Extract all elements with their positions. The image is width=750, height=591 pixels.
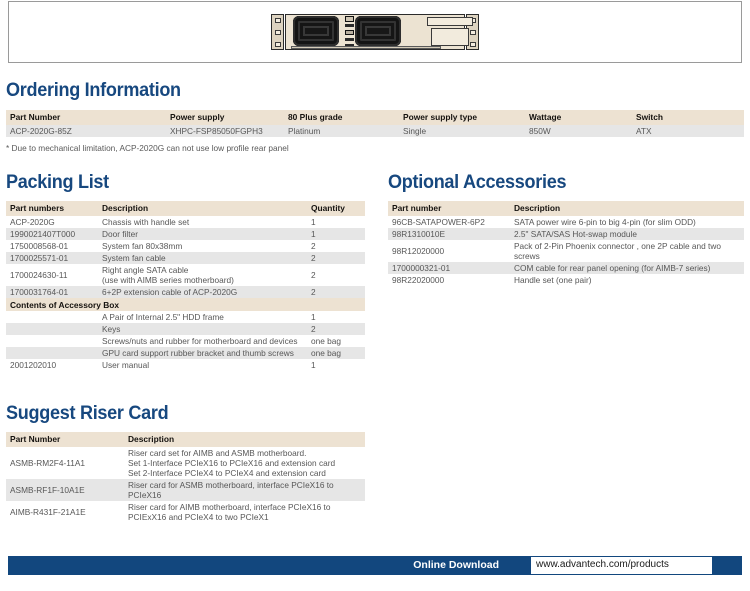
cell-part-number: ASMB-RM2F4-11A1 bbox=[6, 447, 124, 479]
cell-description-line3: Set 2-Interface PCIeX4 to PCIeX4 and ext… bbox=[128, 468, 362, 478]
table-row: GPU card support rubber bracket and thum… bbox=[6, 347, 365, 359]
col-header-quantity: Quantity bbox=[307, 201, 365, 216]
cell-part-number: ASMB-RF1F-10A1E bbox=[6, 479, 124, 501]
cell-description-line2: (use with AIMB series motherboard) bbox=[102, 275, 304, 285]
cell-part-number: ACP-2020G-85Z bbox=[6, 125, 166, 137]
cell-part-number: 96CB-SATAPOWER-6P2 bbox=[388, 216, 510, 228]
table-row: 1700000321-01 COM cable for rear panel o… bbox=[388, 262, 744, 274]
cell-part-number: 1700000321-01 bbox=[388, 262, 510, 274]
cell-wattage: 850W bbox=[525, 125, 632, 137]
cell-description: Pack of 2-Pin Phoenix connector , one 2P… bbox=[510, 240, 744, 262]
table-row: A Pair of Internal 2.5" HDD frame 1 bbox=[6, 311, 365, 323]
cell-description: Keys bbox=[98, 323, 307, 335]
cell-quantity: 2 bbox=[307, 252, 365, 264]
product-image-frame bbox=[8, 1, 742, 63]
suggest-riser-card-table: Part Number Description ASMB-RM2F4-11A1 … bbox=[6, 432, 365, 523]
ordering-footnote: * Due to mechanical limitation, ACP-2020… bbox=[6, 143, 289, 153]
col-header-part-number: Part Number bbox=[6, 110, 166, 125]
cell-part-number: 1700025571-01 bbox=[6, 252, 98, 264]
cell-description: Chassis with handle set bbox=[98, 216, 307, 228]
table-row: 1750008568-01 System fan 80x38mm 2 bbox=[6, 240, 365, 252]
cell-description: Right angle SATA cable (use with AIMB se… bbox=[98, 264, 307, 286]
cell-quantity: 1 bbox=[307, 359, 365, 371]
table-row: 1990021407T000 Door filter 1 bbox=[6, 228, 365, 240]
heading-optional-accessories: Optional Accessories bbox=[388, 172, 566, 194]
cell-description: SATA power wire 6-pin to big 4-pin (for … bbox=[510, 216, 744, 228]
table-header-row: Part Number Description bbox=[6, 432, 365, 447]
cell-part-number: 1750008568-01 bbox=[6, 240, 98, 252]
cell-quantity: 1 bbox=[307, 228, 365, 240]
col-header-part-numbers: Part numbers bbox=[6, 201, 98, 216]
cell-quantity: 1 bbox=[307, 216, 365, 228]
col-header-wattage: Wattage bbox=[525, 110, 632, 125]
col-header-description: Description bbox=[98, 201, 307, 216]
heading-suggest-riser-card: Suggest Riser Card bbox=[6, 403, 168, 425]
cell-quantity: 2 bbox=[307, 264, 365, 286]
cell-quantity: one bag bbox=[307, 335, 365, 347]
table-row: Screws/nuts and rubber for motherboard a… bbox=[6, 335, 365, 347]
table-row: 98R22020000 Handle set (one pair) bbox=[388, 274, 744, 286]
cell-description-line2: Set 1-Interface PCIeX16 to PCIeX16 and e… bbox=[128, 458, 362, 468]
cell-description: A Pair of Internal 2.5" HDD frame bbox=[98, 311, 307, 323]
cell-part-number: 2001202010 bbox=[6, 359, 98, 371]
packing-list-table: Part numbers Description Quantity ACP-20… bbox=[6, 201, 365, 371]
heading-packing-list: Packing List bbox=[6, 172, 109, 194]
fan-icon-right bbox=[355, 16, 401, 46]
col-header-switch: Switch bbox=[632, 110, 744, 125]
cell-description-line1: Riser card for AIMB motherboard, interfa… bbox=[128, 502, 362, 512]
cell-quantity: 1 bbox=[307, 311, 365, 323]
col-header-part-number: Part number bbox=[388, 201, 510, 216]
col-header-description: Description bbox=[124, 432, 365, 447]
table-row: 1700031764-01 6+2P extension cable of AC… bbox=[6, 286, 365, 298]
table-row: 98R1310010E 2.5" SATA/SAS Hot-swap modul… bbox=[388, 228, 744, 240]
fan-icon-left bbox=[293, 16, 339, 46]
cell-part-number: 98R22020000 bbox=[388, 274, 510, 286]
cell-description: GPU card support rubber bracket and thum… bbox=[98, 347, 307, 359]
heading-ordering-information: Ordering Information bbox=[6, 80, 181, 102]
datasheet-page: Ordering Information Part Number Power s… bbox=[0, 0, 750, 591]
table-row: ACP-2020G Chassis with handle set 1 bbox=[6, 216, 365, 228]
cell-part-number: 1700031764-01 bbox=[6, 286, 98, 298]
cell-part-number bbox=[6, 335, 98, 347]
drive-bay-slot bbox=[427, 17, 473, 26]
table-row: ASMB-RM2F4-11A1 Riser card set for AIMB … bbox=[6, 447, 365, 479]
table-header-row: Part Number Power supply 80 Plus grade P… bbox=[6, 110, 744, 125]
cell-power-supply: XHPC-FSP85050FGPH3 bbox=[166, 125, 284, 137]
subheader-label: Contents of Accessory Box bbox=[6, 298, 365, 311]
table-row: 2001202010 User manual 1 bbox=[6, 359, 365, 371]
col-header-description: Description bbox=[510, 201, 744, 216]
cell-part-number bbox=[6, 311, 98, 323]
table-row: 98R12020000 Pack of 2-Pin Phoenix connec… bbox=[388, 240, 744, 262]
chassis-base-rail bbox=[291, 46, 441, 49]
cell-description: Riser card for AIMB motherboard, interfa… bbox=[124, 501, 365, 523]
cell-part-number: 1990021407T000 bbox=[6, 228, 98, 240]
table-row: ACP-2020G-85Z XHPC-FSP85050FGPH3 Platinu… bbox=[6, 125, 744, 137]
cell-part-number: 98R12020000 bbox=[388, 240, 510, 262]
cell-description: Riser card for ASMB motherboard, interfa… bbox=[124, 479, 365, 501]
cell-part-number: ACP-2020G bbox=[6, 216, 98, 228]
ordering-information-table: Part Number Power supply 80 Plus grade P… bbox=[6, 110, 744, 137]
table-header-row: Part numbers Description Quantity bbox=[6, 201, 365, 216]
cell-part-number bbox=[6, 347, 98, 359]
table-subheader-accessory-box: Contents of Accessory Box bbox=[6, 298, 365, 311]
cell-description: 6+2P extension cable of ACP-2020G bbox=[98, 286, 307, 298]
online-download-label: Online Download bbox=[413, 559, 499, 571]
cell-description: COM cable for rear panel opening (for AI… bbox=[510, 262, 744, 274]
table-row: 96CB-SATAPOWER-6P2 SATA power wire 6-pin… bbox=[388, 216, 744, 228]
online-download-url[interactable]: www.advantech.com/products bbox=[531, 557, 712, 574]
cell-quantity: one bag bbox=[307, 347, 365, 359]
cell-ps-type: Single bbox=[399, 125, 525, 137]
cell-description-line1: Riser card set for AIMB and ASMB motherb… bbox=[128, 448, 362, 458]
table-row: AIMB-R431F-21A1E Riser card for AIMB mot… bbox=[6, 501, 365, 523]
cell-part-number bbox=[6, 323, 98, 335]
cell-part-number: 98R1310010E bbox=[388, 228, 510, 240]
col-header-part-number: Part Number bbox=[6, 432, 124, 447]
cell-description: User manual bbox=[98, 359, 307, 371]
cell-quantity: 2 bbox=[307, 286, 365, 298]
table-header-row: Part number Description bbox=[388, 201, 744, 216]
cell-description-line1: Riser card for ASMB motherboard, interfa… bbox=[128, 480, 362, 490]
cell-description: Riser card set for AIMB and ASMB motherb… bbox=[124, 447, 365, 479]
optional-accessories-table: Part number Description 96CB-SATAPOWER-6… bbox=[388, 201, 744, 286]
cell-description: Screws/nuts and rubber for motherboard a… bbox=[98, 335, 307, 347]
cell-description-line2: PCIExX16 and PCIeX4 to two PCIeX1 bbox=[128, 512, 362, 522]
cell-part-number: 1700024630-11 bbox=[6, 264, 98, 286]
cell-description: 2.5" SATA/SAS Hot-swap module bbox=[510, 228, 744, 240]
cell-description-line2: PCIeX16 bbox=[128, 490, 362, 500]
rack-ear-left bbox=[271, 14, 284, 50]
cell-description: Handle set (one pair) bbox=[510, 274, 744, 286]
col-header-ps-type: Power supply type bbox=[399, 110, 525, 125]
table-row: Keys 2 bbox=[6, 323, 365, 335]
col-header-power-supply: Power supply bbox=[166, 110, 284, 125]
online-download-bar: Online Download www.advantech.com/produc… bbox=[8, 556, 742, 575]
drive-bay-panel bbox=[431, 28, 469, 46]
cell-description: Door filter bbox=[98, 228, 307, 240]
cell-switch: ATX bbox=[632, 125, 744, 137]
cell-description: System fan 80x38mm bbox=[98, 240, 307, 252]
cell-description: System fan cable bbox=[98, 252, 307, 264]
cell-quantity: 2 bbox=[307, 323, 365, 335]
cell-part-number: AIMB-R431F-21A1E bbox=[6, 501, 124, 523]
table-row: 1700024630-11 Right angle SATA cable (us… bbox=[6, 264, 365, 286]
table-row: ASMB-RF1F-10A1E Riser card for ASMB moth… bbox=[6, 479, 365, 501]
cell-description-line1: Right angle SATA cable bbox=[102, 265, 304, 275]
chassis-illustration bbox=[271, 13, 479, 51]
cell-quantity: 2 bbox=[307, 240, 365, 252]
table-row: 1700025571-01 System fan cable 2 bbox=[6, 252, 365, 264]
cell-80plus-grade: Platinum bbox=[284, 125, 399, 137]
col-header-80plus-grade: 80 Plus grade bbox=[284, 110, 399, 125]
front-panel-controls bbox=[345, 15, 354, 49]
